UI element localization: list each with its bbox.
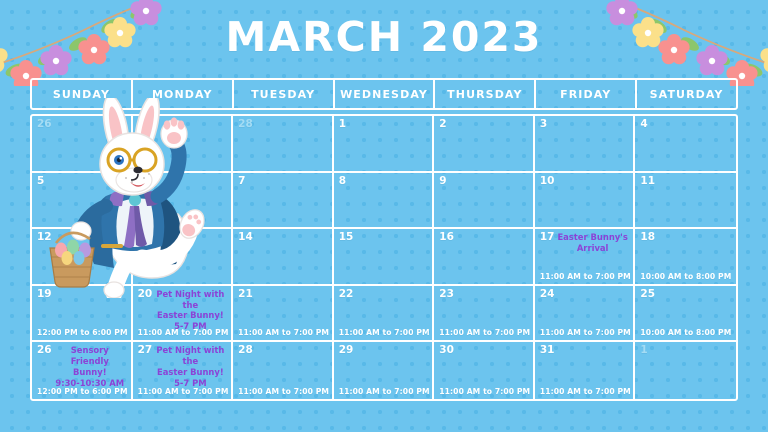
day-number: 23	[439, 289, 529, 301]
hours-label: 11:00 AM to 7:00 PM	[540, 387, 631, 396]
day-number: 13	[138, 232, 228, 244]
hours-label: 11:00 AM to 7:00 PM	[138, 328, 229, 337]
day-cell[interactable]: 14	[233, 229, 334, 286]
day-number: 26	[37, 119, 127, 131]
day-cell[interactable]: 8	[334, 173, 435, 230]
day-cell[interactable]: 2510:00 AM to 8:00 PM	[635, 286, 736, 343]
hours-label: 11:00 AM to 7:00 PM	[138, 387, 229, 396]
day-number: 1	[640, 345, 732, 357]
day-cell[interactable]: 1912:00 PM to 6:00 PM	[32, 286, 133, 343]
hours-label: 11:00 AM to 7:00 PM	[439, 387, 530, 396]
weekday-saturday: SATURDAY	[637, 80, 736, 108]
hours-label: 11:00 AM to 7:00 PM	[238, 328, 329, 337]
hours-label: 11:00 AM to 7:00 PM	[439, 328, 530, 337]
event-label[interactable]: Sensory Friendly Bunny! 9:30-10:30 AM	[52, 345, 128, 388]
day-cell[interactable]: 1	[635, 342, 736, 399]
day-number: 31	[540, 345, 630, 357]
hours-label: 10:00 AM to 8:00 PM	[640, 328, 731, 337]
hours-label: 11:00 AM to 7:00 PM	[540, 328, 631, 337]
day-cell[interactable]: 4	[635, 116, 736, 173]
day-cell[interactable]: 7	[233, 173, 334, 230]
day-number: 16	[439, 232, 529, 244]
day-cell[interactable]: 15	[334, 229, 435, 286]
day-cell[interactable]: 17Easter Bunny's Arrival11:00 AM to 7:00…	[535, 229, 636, 286]
day-number: 28	[238, 119, 328, 131]
hours-label: 10:00 AM to 8:00 PM	[640, 272, 731, 281]
day-cell[interactable]: 6	[133, 173, 234, 230]
day-number: 4	[640, 119, 732, 131]
day-cell[interactable]: 2211:00 AM to 7:00 PM	[334, 286, 435, 343]
day-number: 5	[37, 176, 127, 188]
hours-label: 11:00 AM to 7:00 PM	[339, 387, 430, 396]
day-number: 7	[238, 176, 328, 188]
day-number: 15	[339, 232, 429, 244]
day-number: 27	[138, 119, 228, 131]
day-number: 30	[439, 345, 529, 357]
weekday-thursday: THURSDAY	[435, 80, 536, 108]
day-number: 2	[439, 119, 529, 131]
day-number: 14	[238, 232, 328, 244]
day-cell[interactable]: 13	[133, 229, 234, 286]
event-label[interactable]: Easter Bunny's Arrival	[555, 232, 631, 254]
day-number: 11	[640, 176, 732, 188]
event-label[interactable]: Pet Night with the Easter Bunny! 5-7 PM	[153, 345, 229, 388]
day-cell[interactable]: 3111:00 AM to 7:00 PM	[535, 342, 636, 399]
weekday-tuesday: TUESDAY	[234, 80, 335, 108]
day-number: 19	[37, 289, 127, 301]
day-cell[interactable]: 2111:00 AM to 7:00 PM	[233, 286, 334, 343]
day-cell[interactable]: 27Pet Night with the Easter Bunny! 5-7 P…	[133, 342, 234, 399]
day-number: 21	[238, 289, 328, 301]
weekday-header-row: SUNDAY MONDAY TUESDAY WEDNESDAY THURSDAY…	[30, 78, 738, 110]
day-number: 8	[339, 176, 429, 188]
day-cell[interactable]: 12	[32, 229, 133, 286]
day-number: 3	[540, 119, 630, 131]
day-number: 25	[640, 289, 732, 301]
day-cell[interactable]: 1	[334, 116, 435, 173]
weekday-sunday: SUNDAY	[32, 80, 133, 108]
day-number: 29	[339, 345, 429, 357]
day-cell[interactable]: 1810:00 AM to 8:00 PM	[635, 229, 736, 286]
day-cell[interactable]: 9	[434, 173, 535, 230]
day-cell[interactable]: 26Sensory Friendly Bunny! 9:30-10:30 AM1…	[32, 342, 133, 399]
hours-label: 11:00 AM to 7:00 PM	[238, 387, 329, 396]
day-cell[interactable]: 3	[535, 116, 636, 173]
weekday-monday: MONDAY	[133, 80, 234, 108]
hours-label: 11:00 AM to 7:00 PM	[540, 272, 631, 281]
day-cell[interactable]: 2411:00 AM to 7:00 PM	[535, 286, 636, 343]
page-title: MARCH 2023	[0, 17, 768, 58]
day-cell[interactable]: 26	[32, 116, 133, 173]
day-cell[interactable]: 2911:00 AM to 7:00 PM	[334, 342, 435, 399]
day-cell[interactable]: 2311:00 AM to 7:00 PM	[434, 286, 535, 343]
day-number: 1	[339, 119, 429, 131]
day-cell[interactable]: 28	[233, 116, 334, 173]
calendar-grid: 2627281234567891011121314151617Easter Bu…	[30, 114, 738, 401]
day-cell[interactable]: 3011:00 AM to 7:00 PM	[434, 342, 535, 399]
day-number: 18	[640, 232, 732, 244]
day-number: 12	[37, 232, 127, 244]
weekday-friday: FRIDAY	[536, 80, 637, 108]
day-cell[interactable]: 5	[32, 173, 133, 230]
calendar-page: MARCH 2023 SUNDAY MONDAY TUESDAY WEDNESD…	[0, 0, 768, 432]
day-cell[interactable]: 10	[535, 173, 636, 230]
day-cell[interactable]: 16	[434, 229, 535, 286]
hours-label: 11:00 AM to 7:00 PM	[339, 328, 430, 337]
hours-label: 12:00 PM to 6:00 PM	[37, 387, 128, 396]
day-cell[interactable]: 27	[133, 116, 234, 173]
day-cell[interactable]: 2811:00 AM to 7:00 PM	[233, 342, 334, 399]
day-number: 6	[138, 176, 228, 188]
weekday-wednesday: WEDNESDAY	[335, 80, 436, 108]
day-number: 24	[540, 289, 630, 301]
day-cell[interactable]: 20Pet Night with the Easter Bunny! 5-7 P…	[133, 286, 234, 343]
hours-label: 12:00 PM to 6:00 PM	[37, 328, 128, 337]
event-label[interactable]: Pet Night with the Easter Bunny! 5-7 PM	[153, 289, 229, 332]
day-cell[interactable]: 11	[635, 173, 736, 230]
day-number: 22	[339, 289, 429, 301]
day-number: 10	[540, 176, 630, 188]
day-number: 9	[439, 176, 529, 188]
day-cell[interactable]: 2	[434, 116, 535, 173]
day-number: 28	[238, 345, 328, 357]
